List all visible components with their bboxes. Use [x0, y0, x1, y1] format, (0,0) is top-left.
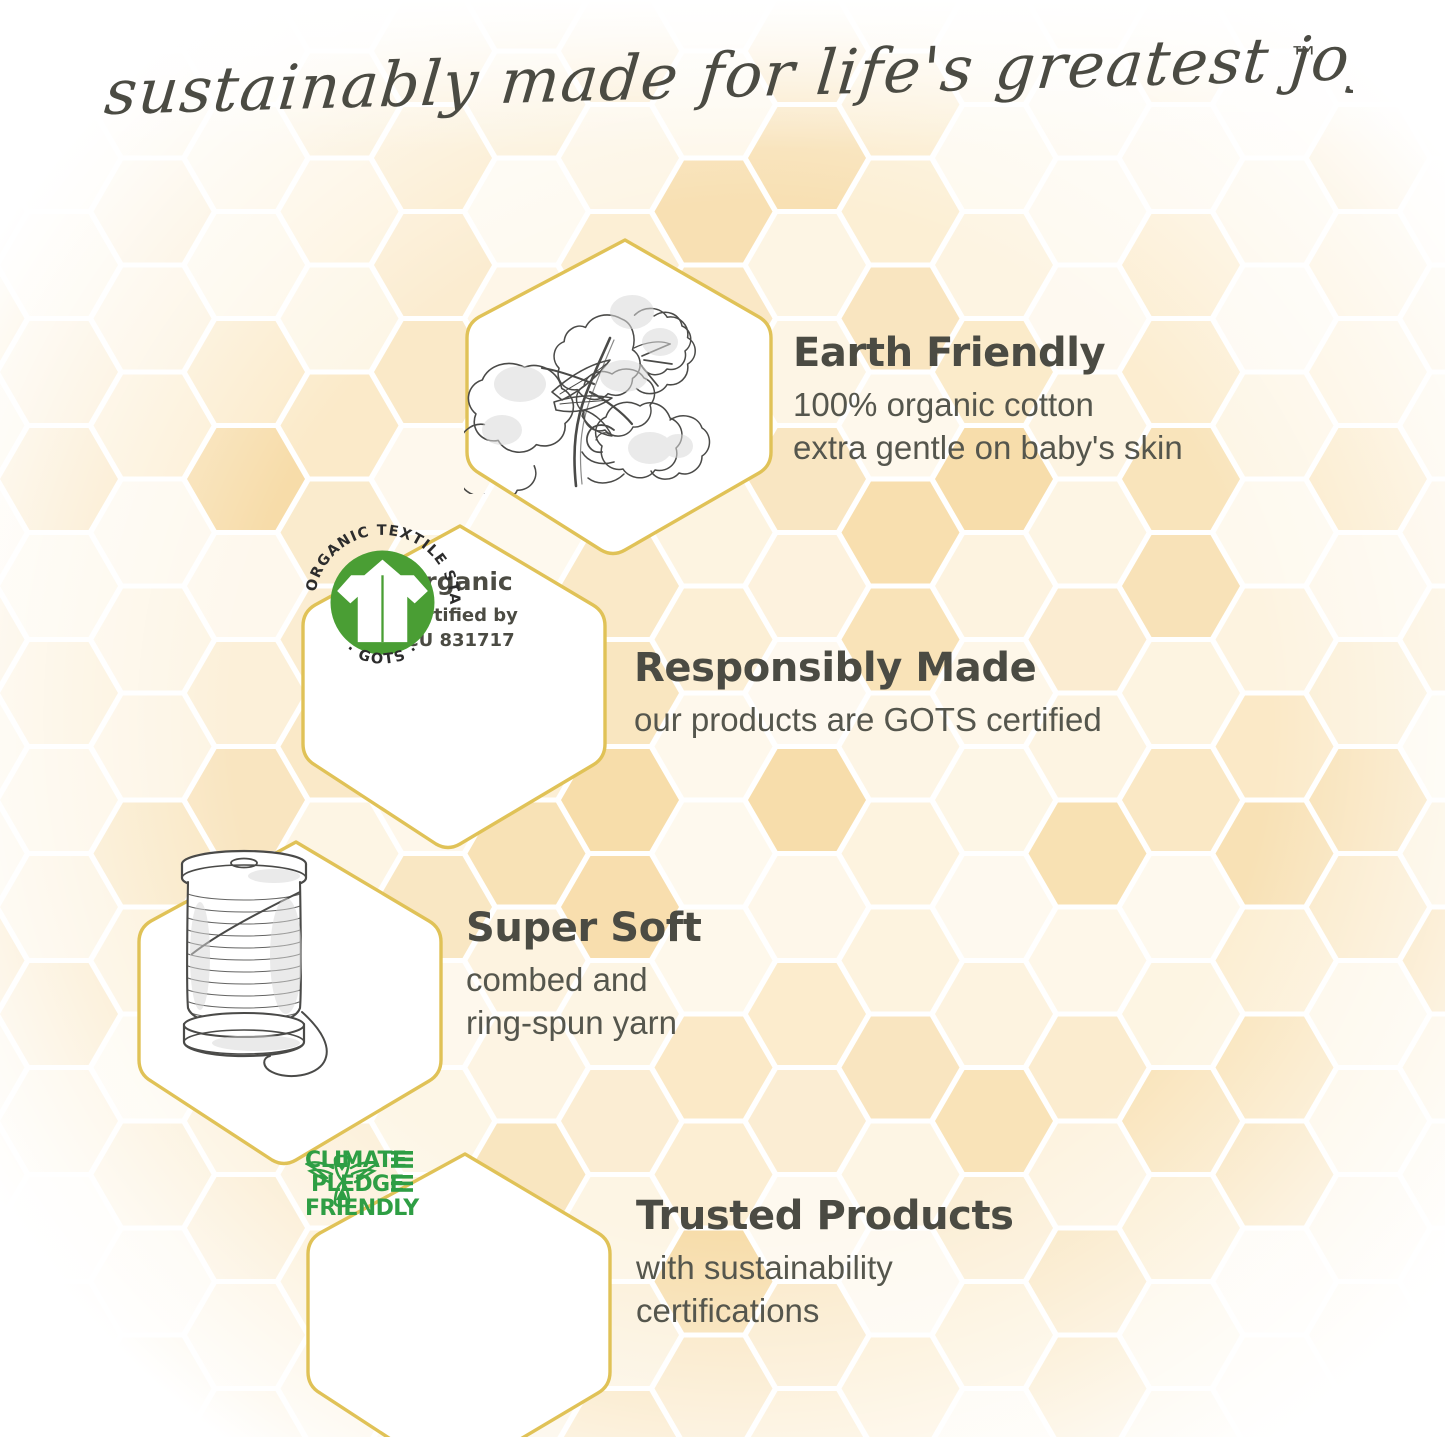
- hex-card-super-soft: [136, 836, 456, 1166]
- feature-title-responsibly-made: Responsibly Made: [634, 648, 1102, 688]
- feature-title-trusted-products: Trusted Products: [636, 1196, 1014, 1236]
- page-headline: sustainably made for life's greatest joy…: [0, 34, 1445, 144]
- trademark-symbol: ™: [1289, 41, 1319, 76]
- cotton-plant-sketch-icon: [464, 234, 714, 494]
- feature-text-trusted-products: Trusted Products with sustainability cer…: [636, 1196, 1014, 1333]
- feature-title-earth-friendly: Earth Friendly: [793, 333, 1183, 373]
- feature-body-earth-friendly-line-2: extra gentle on baby's skin: [793, 427, 1183, 470]
- feature-title-super-soft: Super Soft: [466, 908, 702, 948]
- thread-spool-sketch-icon: [136, 836, 366, 1086]
- feature-text-responsibly-made: Responsibly Made our products are GOTS c…: [634, 648, 1102, 742]
- feature-body-responsibly-made-line-1: our products are GOTS certified: [634, 699, 1102, 742]
- feature-text-earth-friendly: Earth Friendly 100% organic cotton extra…: [793, 333, 1183, 470]
- feature-body-super-soft-line-1: combed and: [466, 959, 702, 1002]
- feature-body-trusted-products-line-1: with sustainability: [636, 1247, 1014, 1290]
- hex-card-responsibly-made: GLOBAL ORGANIC TEXTILE STANDARD · GOTS ·…: [300, 520, 620, 850]
- hex-card-earth-friendly: [464, 234, 786, 556]
- gots-certification-icon: GLOBAL ORGANIC TEXTILE STANDARD · GOTS ·…: [402, 556, 518, 652]
- feature-body-trusted-products-line-2: certifications: [636, 1290, 1014, 1333]
- feature-body-earth-friendly-line-1: 100% organic cotton: [793, 384, 1183, 427]
- hex-card-trusted-products: CLIMATE PLEDGE FRIENDLY: [305, 1148, 625, 1437]
- feature-text-super-soft: Super Soft combed and ring-spun yarn: [466, 908, 702, 1045]
- infographic-canvas: sustainably made for life's greatest joy…: [0, 0, 1445, 1437]
- headline-script-text: sustainably made for life's greatest joy: [101, 34, 1352, 129]
- feature-body-super-soft-line-2: ring-spun yarn: [466, 1002, 702, 1045]
- winged-hourglass-icon: [305, 1148, 379, 1216]
